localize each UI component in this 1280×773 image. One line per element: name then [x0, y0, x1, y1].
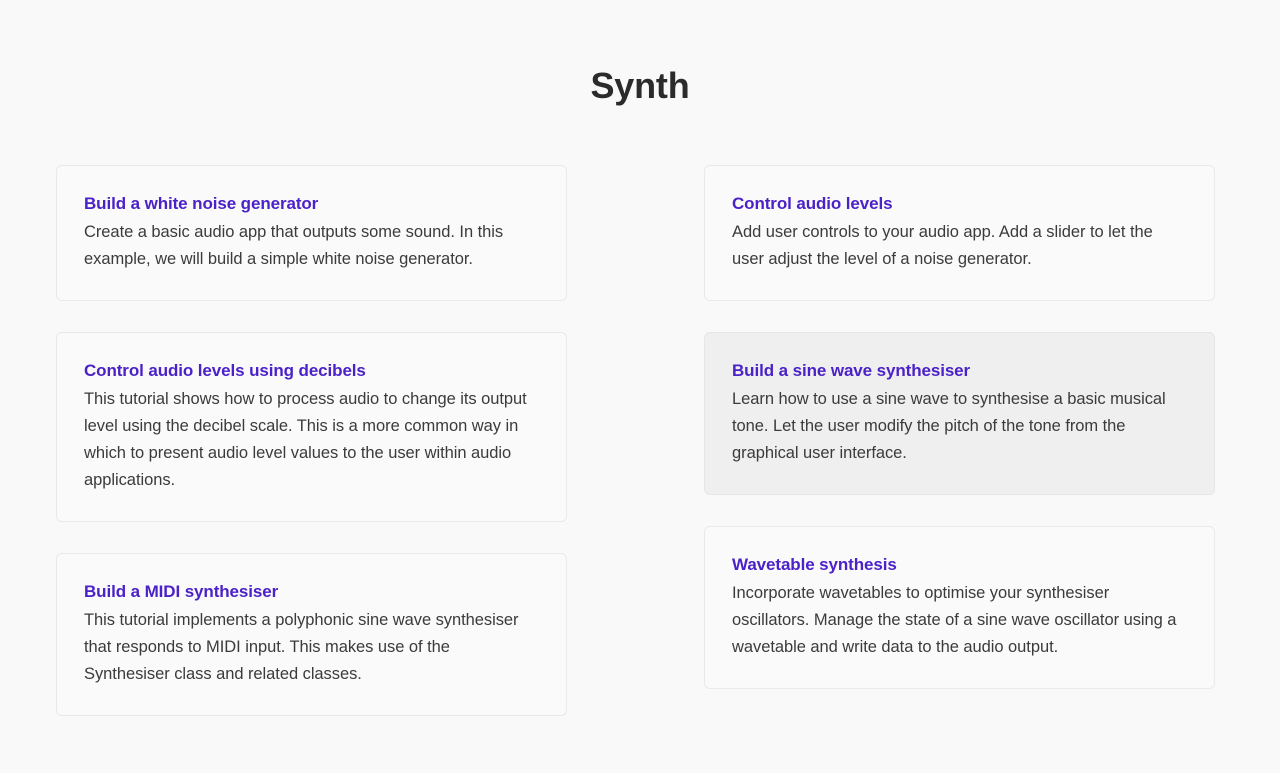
tutorial-card-description: This tutorial implements a polyphonic si…	[84, 607, 539, 688]
tutorial-card-title: Control audio levels	[732, 192, 1187, 216]
tutorial-card-description: Add user controls to your audio app. Add…	[732, 219, 1187, 273]
tutorial-card[interactable]: Wavetable synthesisIncorporate wavetable…	[704, 526, 1215, 689]
tutorial-card-title: Build a MIDI synthesiser	[84, 580, 539, 604]
page-title: Synth	[0, 63, 1280, 109]
tutorial-card-title: Build a white noise generator	[84, 192, 539, 216]
tutorial-card[interactable]: Build a MIDI synthesiserThis tutorial im…	[56, 553, 567, 716]
tutorial-card[interactable]: Control audio levels using decibelsThis …	[56, 332, 567, 522]
tutorial-card-description: Incorporate wavetables to optimise your …	[732, 580, 1187, 661]
tutorial-card-grid: Build a white noise generatorCreate a ba…	[56, 165, 1215, 747]
tutorial-card-description: Learn how to use a sine wave to synthesi…	[732, 386, 1187, 467]
tutorial-column-right: Control audio levelsAdd user controls to…	[704, 165, 1215, 720]
tutorial-card[interactable]: Build a white noise generatorCreate a ba…	[56, 165, 567, 301]
tutorial-card-title: Control audio levels using decibels	[84, 359, 539, 383]
tutorial-card-description: This tutorial shows how to process audio…	[84, 386, 539, 494]
tutorial-column-left: Build a white noise generatorCreate a ba…	[56, 165, 567, 747]
tutorial-card[interactable]: Build a sine wave synthesiserLearn how t…	[704, 332, 1215, 495]
tutorial-card-description: Create a basic audio app that outputs so…	[84, 219, 539, 273]
tutorial-card-title: Build a sine wave synthesiser	[732, 359, 1187, 383]
page-root: Synth Build a white noise generatorCreat…	[0, 0, 1280, 773]
tutorial-card[interactable]: Control audio levelsAdd user controls to…	[704, 165, 1215, 301]
tutorial-card-title: Wavetable synthesis	[732, 553, 1187, 577]
